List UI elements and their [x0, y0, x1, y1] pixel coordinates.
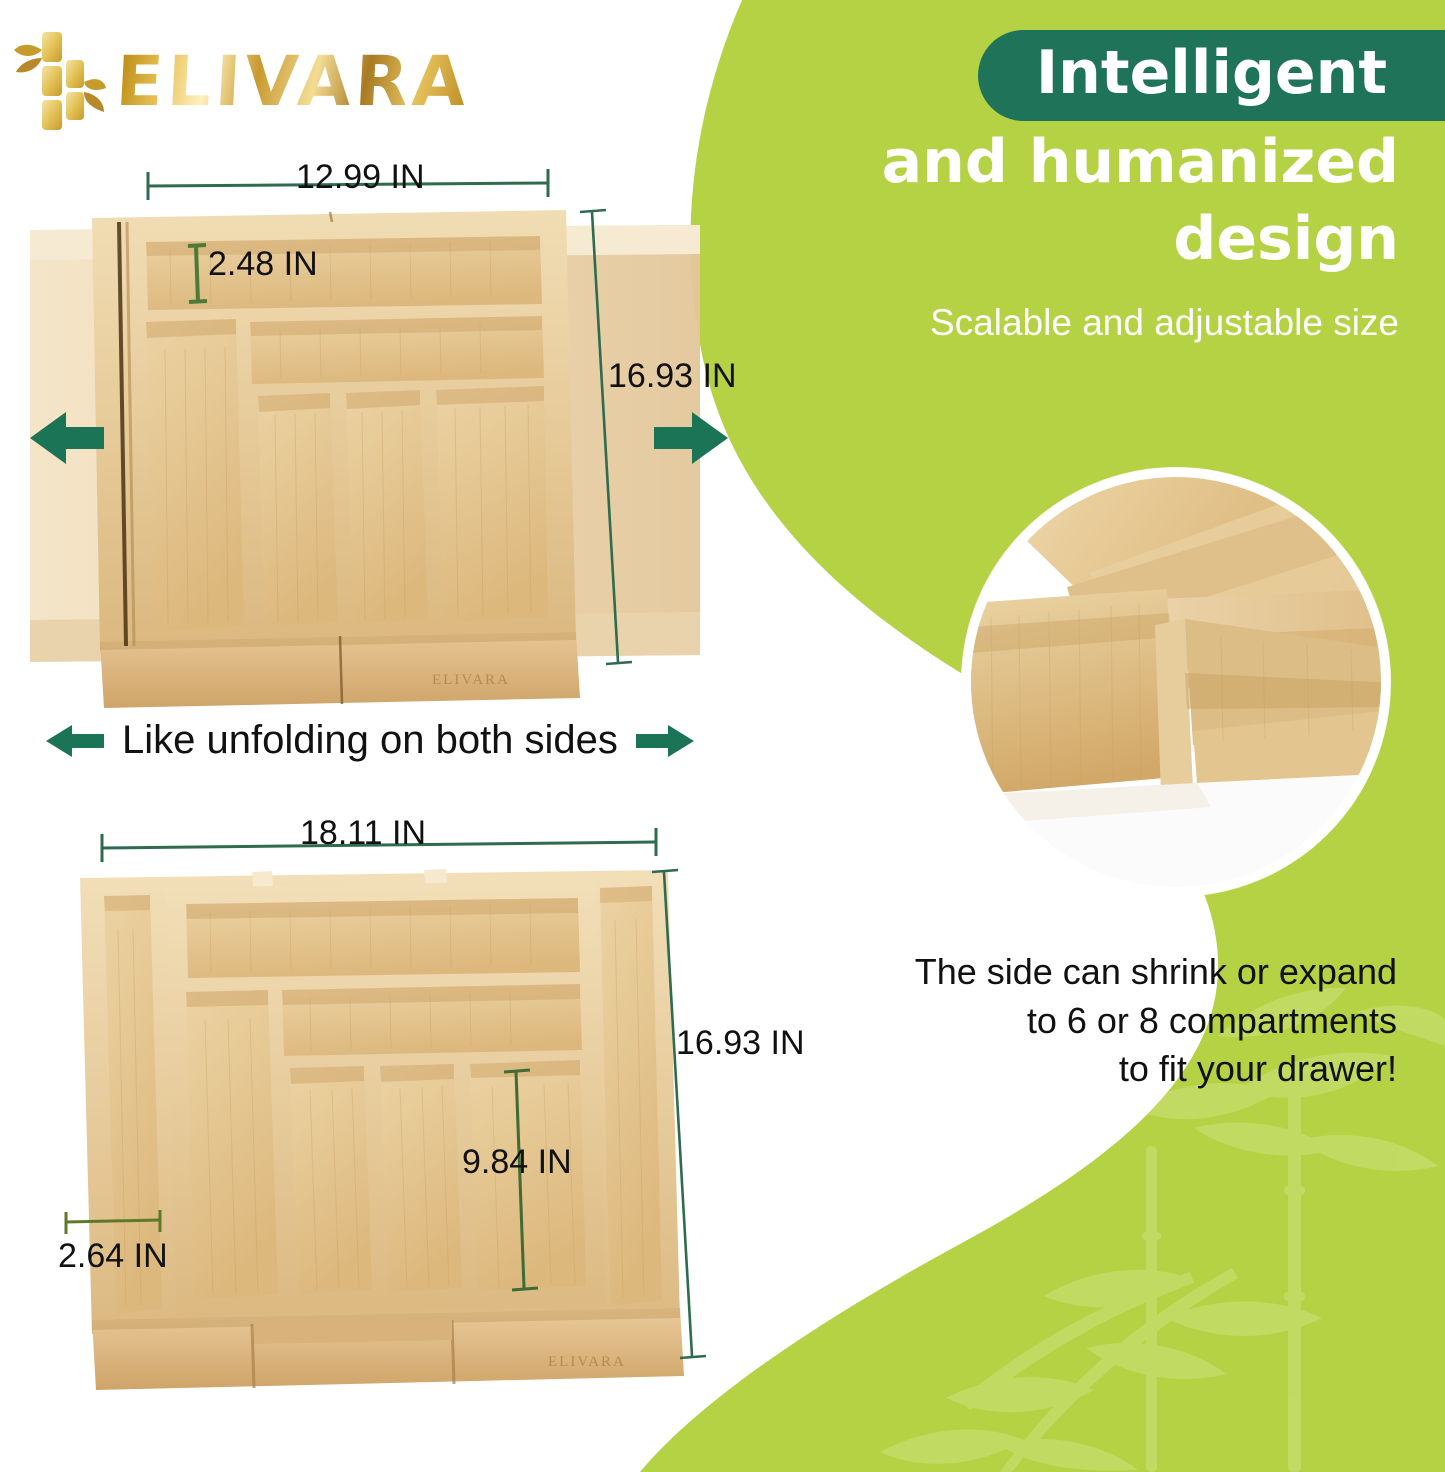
slot-length-label: 9.84 IN [462, 1143, 572, 1182]
expanded-tray-figure: ELIVARA [0, 800, 830, 1420]
sliding-rail-closeup-photo [962, 468, 1390, 896]
unfold-caption: Like unfolding on both sides [122, 718, 618, 763]
feature-line-1: The side can shrink or expand [837, 948, 1397, 997]
feature-line-3: to fit your drawer! [837, 1045, 1397, 1094]
headline-pill-word: Intelligent [1036, 38, 1387, 108]
headline-pill: Intelligent [978, 30, 1445, 121]
collapsed-tray-figure: ELIVARA [0, 150, 760, 720]
brand-logo: ELIVARA [14, 26, 469, 138]
feature-line-2: to 6 or 8 compartments [837, 997, 1397, 1046]
tray-brand-stamp: ELIVARA [432, 672, 510, 688]
unfold-caption-row: Like unfolding on both sides [44, 718, 696, 763]
rail-closeup-illustration [971, 477, 1381, 887]
collapsed-width-label: 12.99 IN [296, 158, 425, 197]
infographic-canvas: ELIVARA Intelligent and humanized design… [0, 0, 1445, 1472]
collapsed-depth-label: 16.93 IN [608, 357, 737, 396]
collapsed-tray-illustration: ELIVARA [0, 150, 760, 720]
feature-description: The side can shrink or expand to 6 or 8 … [837, 948, 1397, 1094]
headline-block: Intelligent and humanized design Scalabl… [759, 30, 1399, 345]
expanded-tray-illustration: ELIVARA [0, 800, 830, 1420]
expanded-depth-label: 16.93 IN [676, 1024, 805, 1063]
side-width-label: 2.64 IN [58, 1237, 168, 1276]
tray-brand-stamp: ELIVARA [548, 1354, 626, 1370]
bamboo-stalk-icon [14, 26, 106, 138]
headline-line-3: design [759, 204, 1399, 275]
expanded-width-label: 18.11 IN [300, 814, 426, 853]
brand-name: ELIVARA [114, 48, 471, 117]
arrow-right-icon [634, 721, 696, 761]
headline-subtitle: Scalable and adjustable size [759, 301, 1399, 345]
collapsed-compartment-height-label: 2.48 IN [208, 245, 318, 284]
headline-line-2: and humanized [759, 127, 1399, 198]
arrow-left-icon [44, 721, 106, 761]
